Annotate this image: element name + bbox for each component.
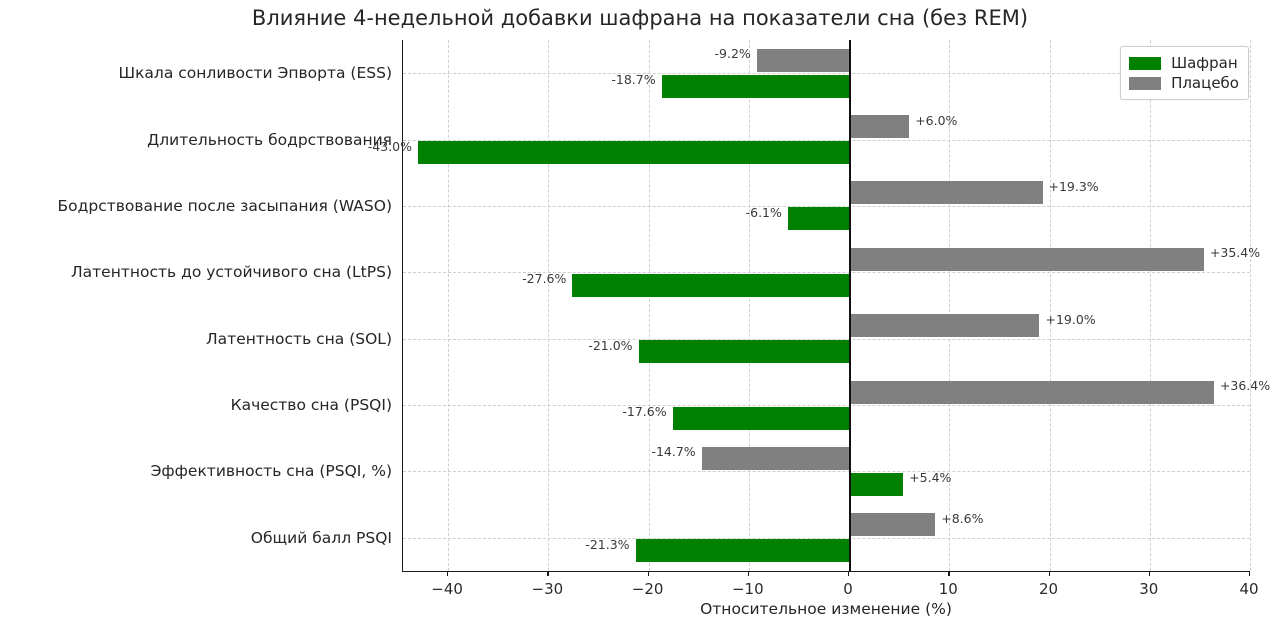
- bar-placebo[interactable]: [849, 115, 909, 138]
- bar-placebo[interactable]: [849, 513, 935, 536]
- chart-figure: Влияние 4-недельной добавки шафрана на п…: [0, 0, 1280, 631]
- bar-value-label: +5.4%: [909, 471, 951, 485]
- y-tick-label: Латентность до устойчивого сна (LtPS): [71, 263, 392, 281]
- x-tick-label: 20: [1039, 580, 1058, 598]
- x-tick-mark: [748, 571, 749, 576]
- legend-swatch-icon: [1129, 77, 1161, 90]
- chart-title: Влияние 4-недельной добавки шафрана на п…: [0, 6, 1280, 30]
- bar-saffron[interactable]: [418, 141, 849, 164]
- x-gridline: [548, 40, 550, 571]
- x-tick-label: 40: [1239, 580, 1258, 598]
- bar-placebo[interactable]: [757, 49, 849, 72]
- x-gridline: [448, 40, 450, 571]
- x-tick-label: −40: [431, 580, 463, 598]
- x-tick-label: −30: [532, 580, 564, 598]
- bar-saffron[interactable]: [662, 75, 849, 98]
- bar-saffron[interactable]: [636, 539, 850, 562]
- bar-value-label: -18.7%: [611, 73, 655, 87]
- y-tick-label: Качество сна (PSQI): [231, 396, 392, 414]
- y-tick-label: Эффективность сна (PSQI, %): [151, 462, 392, 480]
- bar-value-label: -21.3%: [585, 538, 629, 552]
- bar-placebo[interactable]: [849, 248, 1204, 271]
- bar-saffron[interactable]: [849, 473, 903, 496]
- y-axis-tick-labels: Шкала сонливости Эпворта (ESS)Длительнос…: [0, 40, 392, 572]
- plot-area: -9.2%-18.7%+6.0%-43.0%+19.3%-6.1%+35.4%-…: [402, 40, 1250, 572]
- bar-placebo[interactable]: [849, 381, 1214, 404]
- x-tick-mark: [1249, 571, 1250, 576]
- bar-value-label: -21.0%: [588, 339, 632, 353]
- bar-value-label: -6.1%: [746, 206, 782, 220]
- x-axis-title: Относительное изменение (%): [402, 600, 1250, 618]
- bar-saffron[interactable]: [673, 407, 849, 430]
- x-tick-label: 0: [843, 580, 853, 598]
- bar-value-label: +36.4%: [1220, 379, 1270, 393]
- x-tick-mark: [848, 571, 849, 576]
- bar-value-label: +19.3%: [1049, 180, 1099, 194]
- x-tick-mark: [648, 571, 649, 576]
- x-gridline: [1150, 40, 1152, 571]
- bar-value-label: +19.0%: [1046, 313, 1096, 327]
- legend-item-placebo[interactable]: Плацебо: [1129, 73, 1239, 93]
- zero-axis-line: [849, 40, 851, 571]
- x-tick-label: −10: [732, 580, 764, 598]
- legend-label: Плацебо: [1171, 74, 1239, 92]
- x-gridline: [1050, 40, 1052, 571]
- legend-label: Шафран: [1171, 54, 1238, 72]
- bar-saffron[interactable]: [788, 207, 849, 230]
- x-tick-mark: [1049, 571, 1050, 576]
- bar-value-label: -9.2%: [715, 47, 751, 61]
- x-tick-label: −20: [632, 580, 664, 598]
- bar-placebo[interactable]: [849, 181, 1042, 204]
- legend-swatch-icon: [1129, 57, 1161, 70]
- x-tick-mark: [447, 571, 448, 576]
- x-tick-mark: [948, 571, 949, 576]
- chart-legend: ШафранПлацебо: [1120, 46, 1249, 100]
- y-tick-label: Общий балл PSQI: [251, 529, 392, 547]
- bar-value-label: -27.6%: [522, 272, 566, 286]
- x-tick-label: 10: [939, 580, 958, 598]
- y-gridline: [403, 471, 1250, 472]
- bar-saffron[interactable]: [572, 274, 849, 297]
- x-tick-mark: [1149, 571, 1150, 576]
- bar-value-label: +35.4%: [1210, 246, 1260, 260]
- x-gridline: [749, 40, 751, 571]
- bar-value-label: -14.7%: [651, 445, 695, 459]
- y-tick-label: Латентность сна (SOL): [206, 330, 392, 348]
- x-gridline: [1250, 40, 1252, 571]
- y-tick-label: Бодрствование после засыпания (WASO): [58, 197, 392, 215]
- bar-value-label: -43.0%: [368, 140, 412, 154]
- bar-placebo[interactable]: [702, 447, 849, 470]
- y-tick-label: Длительность бодрствования: [147, 131, 392, 149]
- bar-saffron[interactable]: [639, 340, 849, 363]
- bar-placebo[interactable]: [849, 314, 1039, 337]
- bar-value-label: +8.6%: [941, 512, 983, 526]
- x-tick-label: 30: [1139, 580, 1158, 598]
- legend-item-saffron[interactable]: Шафран: [1129, 53, 1239, 73]
- bar-value-label: +6.0%: [915, 114, 957, 128]
- bar-value-label: -17.6%: [622, 405, 666, 419]
- x-tick-mark: [547, 571, 548, 576]
- y-tick-label: Шкала сонливости Эпворта (ESS): [119, 64, 393, 82]
- x-gridline: [649, 40, 651, 571]
